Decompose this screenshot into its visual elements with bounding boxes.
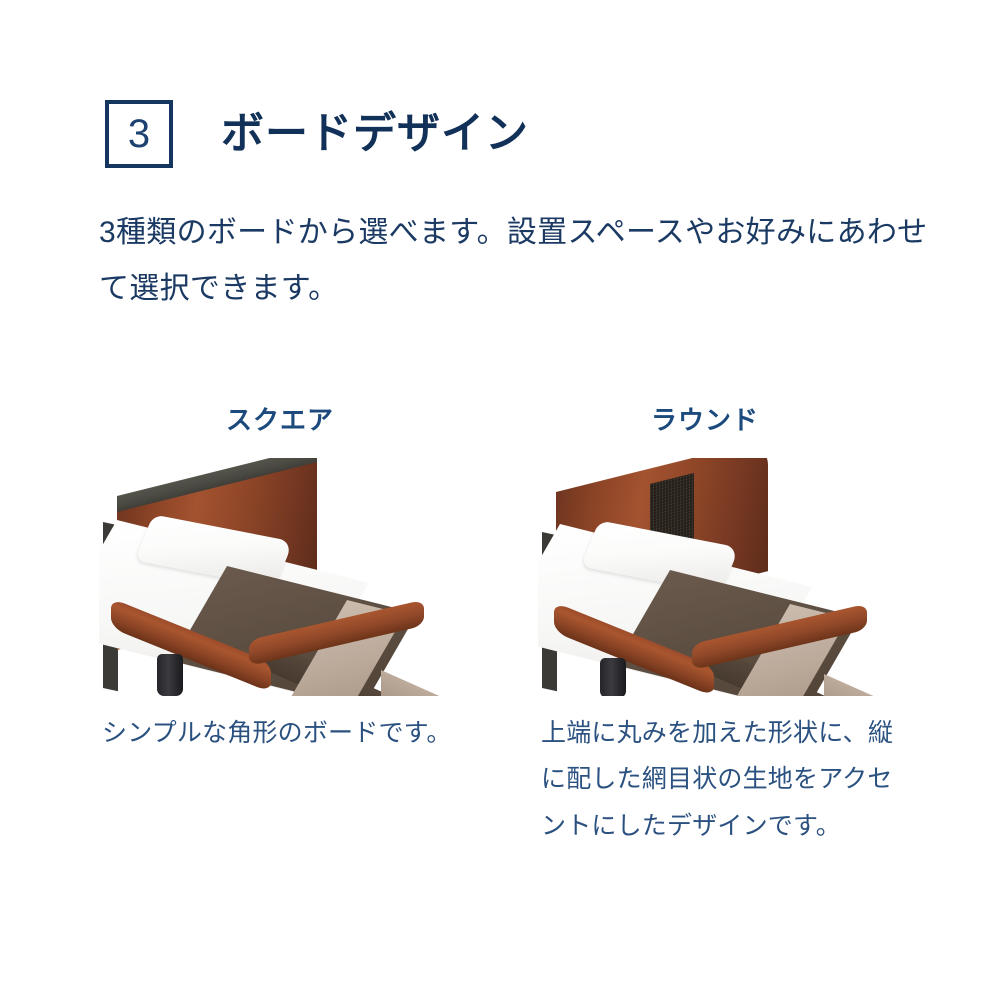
- board-option-round: ラウンド: [538, 400, 938, 849]
- intro-paragraph: 3種類のボードから選べます。設置スペースやお好みにあわせて選択できます。: [99, 205, 929, 316]
- option-heading-square: スクエア: [99, 400, 499, 440]
- board-option-square: スクエア: [99, 400, 499, 756]
- bed-leg: [600, 658, 626, 696]
- section-header: 3 ボードデザイン: [105, 100, 529, 168]
- bed-image-round: [538, 458, 938, 696]
- bed-leg: [157, 654, 183, 696]
- option-heading-round: ラウンド: [538, 400, 938, 440]
- bed-image-square: [99, 458, 499, 696]
- option-caption-square: シンプルな角形のボードです。: [99, 710, 457, 756]
- step-number: 3: [128, 114, 150, 154]
- page-title: ボードデザイン: [221, 113, 529, 156]
- throw-side: [381, 670, 499, 696]
- step-number-box: 3: [105, 100, 173, 168]
- throw-side: [824, 674, 938, 696]
- option-caption-round: 上端に丸みを加えた形状に、縦に配した網目状の生地をアクセントにしたデザインです。: [538, 710, 913, 849]
